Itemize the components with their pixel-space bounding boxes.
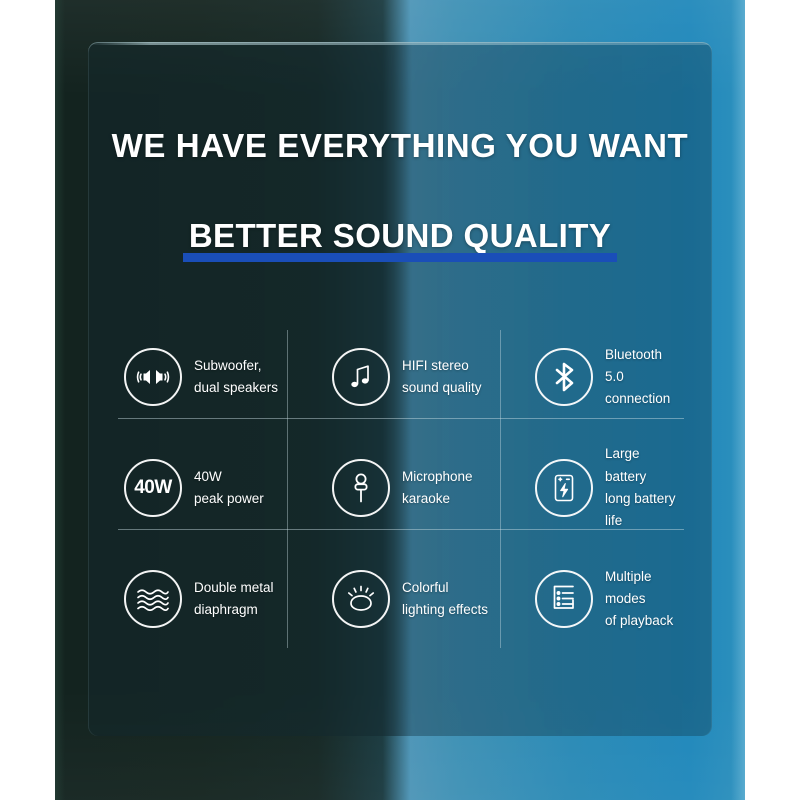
power-40w-icon-text: 40W — [134, 477, 172, 499]
feature-label: Double metal diaphragm — [194, 577, 274, 622]
feature-row-1: Subwoofer, dual speakers HIFI stereo sou… — [118, 322, 684, 432]
feature-item-playback-modes: Multiple modes of playback — [513, 544, 684, 654]
feature-row-3: Double metal diaphragm Colorful lighting… — [118, 544, 684, 654]
rgb-light-icon — [332, 570, 390, 628]
feature-grid: Subwoofer, dual speakers HIFI stereo sou… — [118, 322, 684, 654]
bluetooth-icon — [535, 348, 593, 406]
sound-waves-icon — [124, 570, 182, 628]
music-note-icon — [332, 348, 390, 406]
power-40w-icon: 40W — [124, 459, 182, 517]
microphone-icon — [332, 459, 390, 517]
background-right-edge — [731, 0, 745, 800]
feature-row-2: 40W 40W peak power Microphone karaoke — [118, 433, 684, 543]
feature-item-bluetooth: Bluetooth 5.0 connection — [513, 322, 684, 432]
feature-item-hifi-stereo: HIFI stereo sound quality — [308, 322, 513, 432]
feature-item-battery: Large battery long battery life — [513, 433, 684, 543]
panel-top-highlight — [88, 42, 712, 45]
feature-item-diaphragm: Double metal diaphragm — [118, 544, 308, 654]
feature-item-microphone: Microphone karaoke — [308, 433, 513, 543]
background-left-edge — [55, 0, 65, 800]
feature-item-subwoofer: Subwoofer, dual speakers — [118, 322, 308, 432]
feature-label: Bluetooth 5.0 connection — [605, 344, 684, 411]
feature-label: Multiple modes of playback — [605, 566, 684, 633]
feature-label: 40W peak power — [194, 466, 264, 511]
feature-label: HIFI stereo sound quality — [402, 355, 482, 400]
subwoofer-speakers-icon — [124, 348, 182, 406]
playlist-icon — [535, 570, 593, 628]
feature-item-peak-power: 40W 40W peak power — [118, 433, 308, 543]
promo-banner: WE HAVE EVERYTHING YOU WANT BETTER SOUND… — [0, 0, 800, 800]
feature-label: Large battery long battery life — [605, 443, 684, 532]
battery-bolt-icon — [535, 459, 593, 517]
feature-label: Microphone karaoke — [402, 466, 473, 511]
feature-label: Subwoofer, dual speakers — [194, 355, 278, 400]
feature-item-lighting: Colorful lighting effects — [308, 544, 513, 654]
feature-label: Colorful lighting effects — [402, 577, 488, 622]
